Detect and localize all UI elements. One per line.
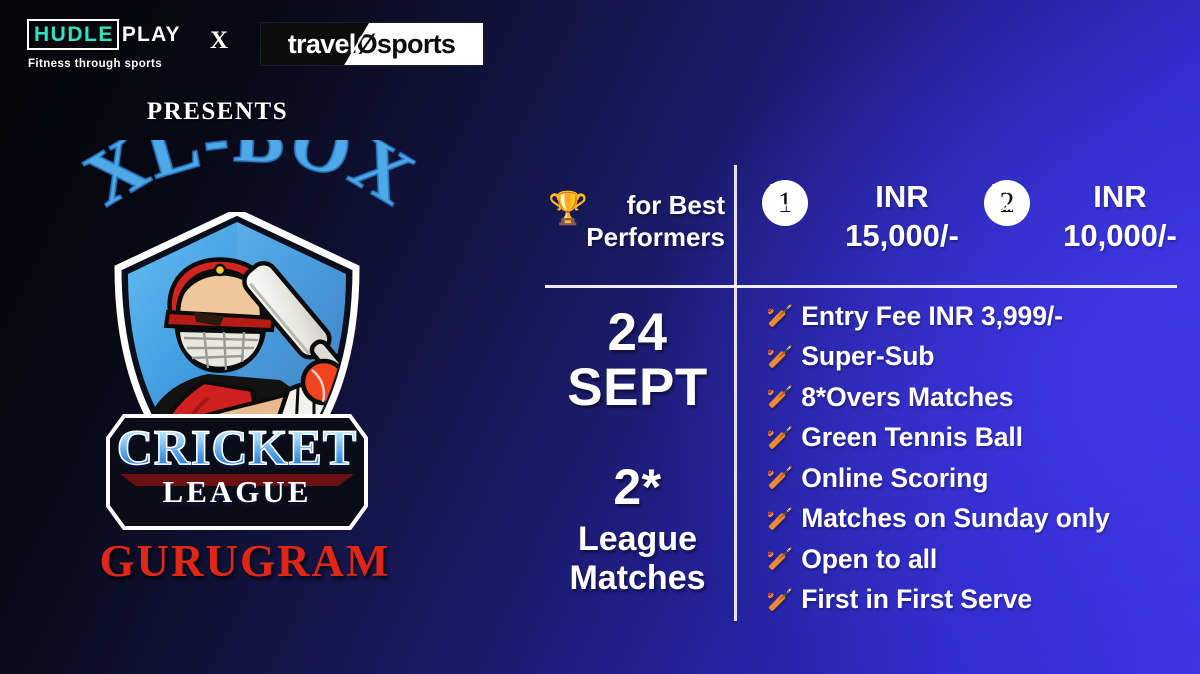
list-item-label: Open to all: [801, 544, 937, 575]
city-label: GURUGRAM: [20, 535, 470, 587]
divider-vertical-top: [734, 165, 737, 287]
cricket-bat-icon: 🏏: [766, 346, 793, 368]
presents-label: PRESENTS: [0, 98, 435, 126]
badge-cricket-text: CRICKET: [102, 418, 372, 476]
list-item-label: First in First Serve: [801, 584, 1032, 615]
list-item: 🏏 Entry Fee INR 3,999/-: [766, 296, 1186, 337]
cricket-bat-icon: 🏏: [766, 386, 793, 408]
hudle-wordmark: HUDLE: [34, 24, 114, 45]
league-match-count: 2*: [545, 462, 730, 512]
event-poster: HUDLE PLAY Fitness through sports X trav…: [0, 0, 1200, 674]
list-item-label: Matches on Sunday only: [801, 503, 1110, 534]
svg-text:XL-BOX: XL-BOX: [71, 140, 428, 222]
list-item-label: 8*Overs Matches: [801, 382, 1013, 413]
event-day: 24: [545, 305, 730, 360]
xl-box-arc-shadow: XL-BOX: [71, 140, 428, 222]
list-item: 🏏 8*Overs Matches: [766, 377, 1186, 418]
prize-money-label-2-line2: Money: [987, 200, 1028, 214]
cricket-bat-icon: 🏏: [766, 548, 793, 570]
list-item-label: Super-Sub: [801, 341, 934, 372]
divider-horizontal: [545, 285, 1177, 288]
travelosports-left-text: travel: [288, 29, 356, 60]
prize-money-label-1: Prize Money: [750, 180, 820, 216]
best-performers-line1: for Best: [545, 190, 725, 222]
cricket-bat-icon: 🏏: [766, 427, 793, 449]
prize-value-1: 15,000/-: [822, 217, 982, 256]
cricket-bat-icon: 🏏: [766, 467, 793, 489]
list-item: 🏏 First in First Serve: [766, 580, 1186, 621]
prize-money-label-1-line1: Prize: [770, 182, 801, 196]
list-item: 🏏 Open to all: [766, 539, 1186, 580]
prize-currency-1: INR: [822, 178, 982, 217]
league-logo: XL-BOX XL-BOX: [20, 140, 470, 610]
prize-value-2: 10,000/-: [1040, 217, 1200, 256]
cricket-bat-icon: 🏏: [766, 589, 793, 611]
prize-money-label-2: Prize Money: [972, 180, 1042, 216]
list-item-label: Entry Fee INR 3,999/-: [801, 301, 1063, 332]
hudle-play-logo: HUDLE PLAY Fitness through sports: [27, 19, 181, 70]
league-match-label-line1: League: [545, 520, 730, 559]
hudle-logo-box: HUDLE: [27, 19, 119, 50]
best-performers-heading: for Best Performers: [545, 190, 725, 253]
cricket-bat-icon: 🏏: [766, 508, 793, 530]
prize-money-label-1-line2: Money: [765, 200, 806, 214]
list-item: 🏏 Matches on Sunday only: [766, 499, 1186, 540]
badge-league-text: LEAGUE: [102, 474, 372, 510]
list-item: 🏏 Super-Sub: [766, 337, 1186, 378]
list-item: 🏏 Green Tennis Ball: [766, 418, 1186, 459]
cricket-league-badge: CRICKET LEAGUE: [102, 412, 372, 532]
prize-amount-2: INR 10,000/-: [1040, 178, 1200, 256]
travelosports-logo: travelOsports travelØsports: [260, 22, 484, 66]
prize-amount-1: INR 15,000/-: [822, 178, 982, 256]
cricket-bat-icon: 🏏: [766, 305, 793, 327]
hudle-play-wordmark: PLAY: [122, 24, 181, 45]
sponsor-header: HUDLE PLAY Fitness through sports X trav…: [0, 0, 520, 90]
prize-money-label-2-line1: Prize: [992, 182, 1023, 196]
best-performers-line2: Performers: [545, 222, 725, 254]
features-list: 🏏 Entry Fee INR 3,999/- 🏏 Super-Sub 🏏 8*…: [766, 296, 1186, 620]
list-item: 🏏 Online Scoring: [766, 458, 1186, 499]
list-item-label: Online Scoring: [801, 463, 988, 494]
list-item-label: Green Tennis Ball: [801, 422, 1023, 453]
collab-x-separator: X: [210, 27, 228, 55]
event-date: 24 SEPT: [545, 305, 730, 415]
league-match-label-line2: Matches: [545, 559, 730, 598]
league-match-label: League Matches: [545, 520, 730, 598]
svg-text:XL-BOX: XL-BOX: [71, 140, 428, 222]
hudle-tagline: Fitness through sports: [28, 58, 181, 70]
event-month: SEPT: [545, 360, 730, 415]
divider-vertical-bottom: [734, 288, 737, 621]
xl-box-arc-fill: XL-BOX: [71, 140, 428, 222]
prize-currency-2: INR: [1040, 178, 1200, 217]
